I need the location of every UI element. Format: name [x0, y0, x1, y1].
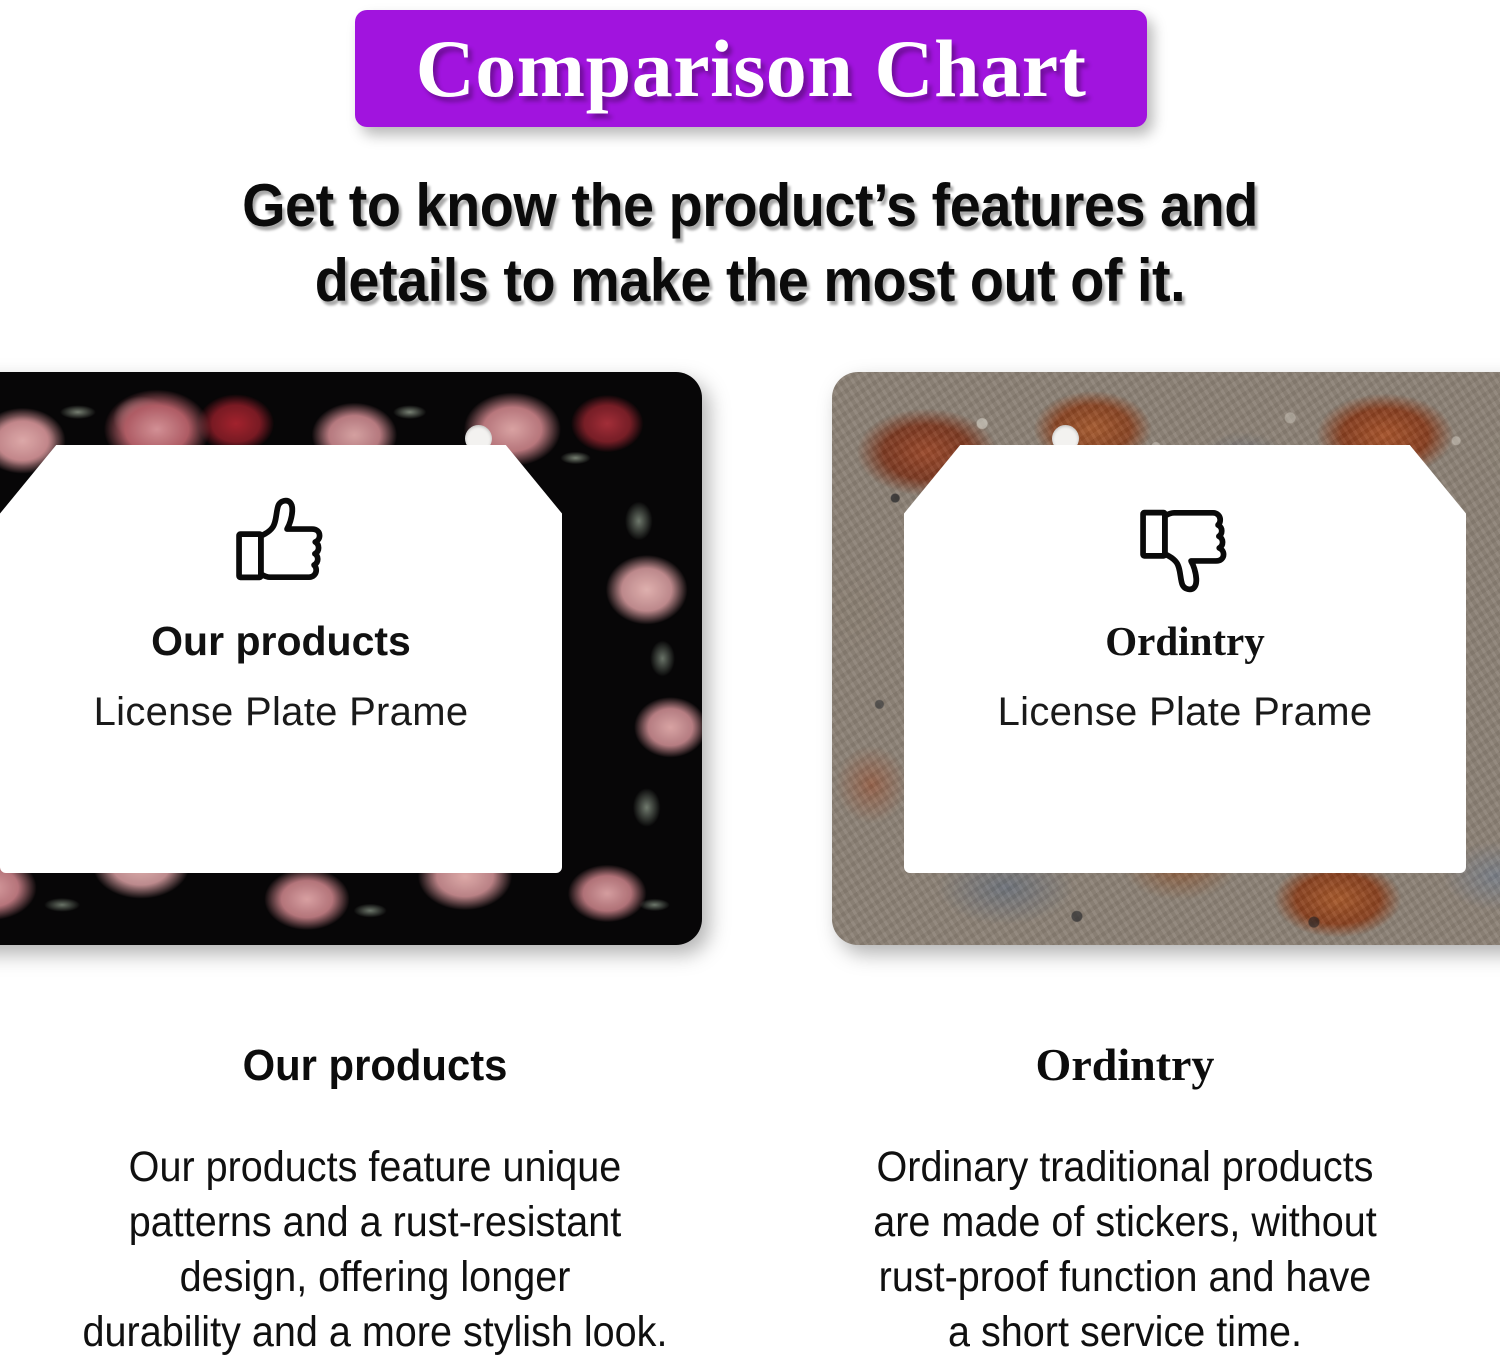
detail-line: a short service time.: [819, 1305, 1432, 1360]
header-section: Comparison Chart Get to know the product…: [0, 0, 1500, 330]
subtitle-line-2: details to make the most out of it.: [53, 243, 1448, 318]
detail-line: Ordinary traditional products: [819, 1140, 1432, 1195]
detail-line: design, offering longer: [69, 1250, 682, 1305]
our-brand-label: Our products: [151, 621, 411, 662]
ordinary-product-plate-frame: Ordintry License Plate Prame: [832, 372, 1500, 945]
ordinary-product-label: License Plate Prame: [998, 692, 1373, 732]
plate-window-ours: Our products License Plate Prame: [0, 445, 562, 873]
our-product-plate-frame: Our products License Plate Prame: [0, 372, 702, 945]
title-banner: Comparison Chart: [355, 10, 1147, 127]
ordinary-brand-label: Ordintry: [1105, 621, 1264, 662]
our-products-detail-column: Our products Our products feature unique…: [0, 1020, 750, 1364]
our-products-detail-heading: Our products: [59, 1044, 692, 1088]
thumbs-down-icon: [1131, 493, 1239, 597]
details-section: Our products Our products feature unique…: [0, 1020, 1500, 1364]
ordinary-detail-column: Ordintry Ordinary traditional products a…: [750, 1020, 1500, 1364]
detail-line: are made of stickers, without: [819, 1195, 1432, 1250]
detail-line: Our products feature unique: [69, 1140, 682, 1195]
our-product-label: License Plate Prame: [94, 692, 469, 732]
detail-line: rust-proof function and have: [819, 1250, 1432, 1305]
plate-frames-section: Our products License Plate Prame Ordintr…: [0, 372, 1500, 972]
ordinary-detail-body: Ordinary traditional products are made o…: [819, 1140, 1432, 1360]
ordinary-detail-heading: Ordintry: [792, 1042, 1458, 1088]
detail-line: durability and a more stylish look.: [69, 1305, 682, 1360]
our-products-detail-body: Our products feature unique patterns and…: [69, 1140, 682, 1360]
detail-line: patterns and a rust-resistant: [69, 1195, 682, 1250]
plate-window-other: Ordintry License Plate Prame: [904, 445, 1466, 873]
page-title: Comparison Chart: [416, 28, 1087, 110]
subtitle: Get to know the product’s features and d…: [53, 168, 1448, 318]
subtitle-line-1: Get to know the product’s features and: [53, 168, 1448, 243]
thumbs-up-icon: [227, 493, 335, 597]
